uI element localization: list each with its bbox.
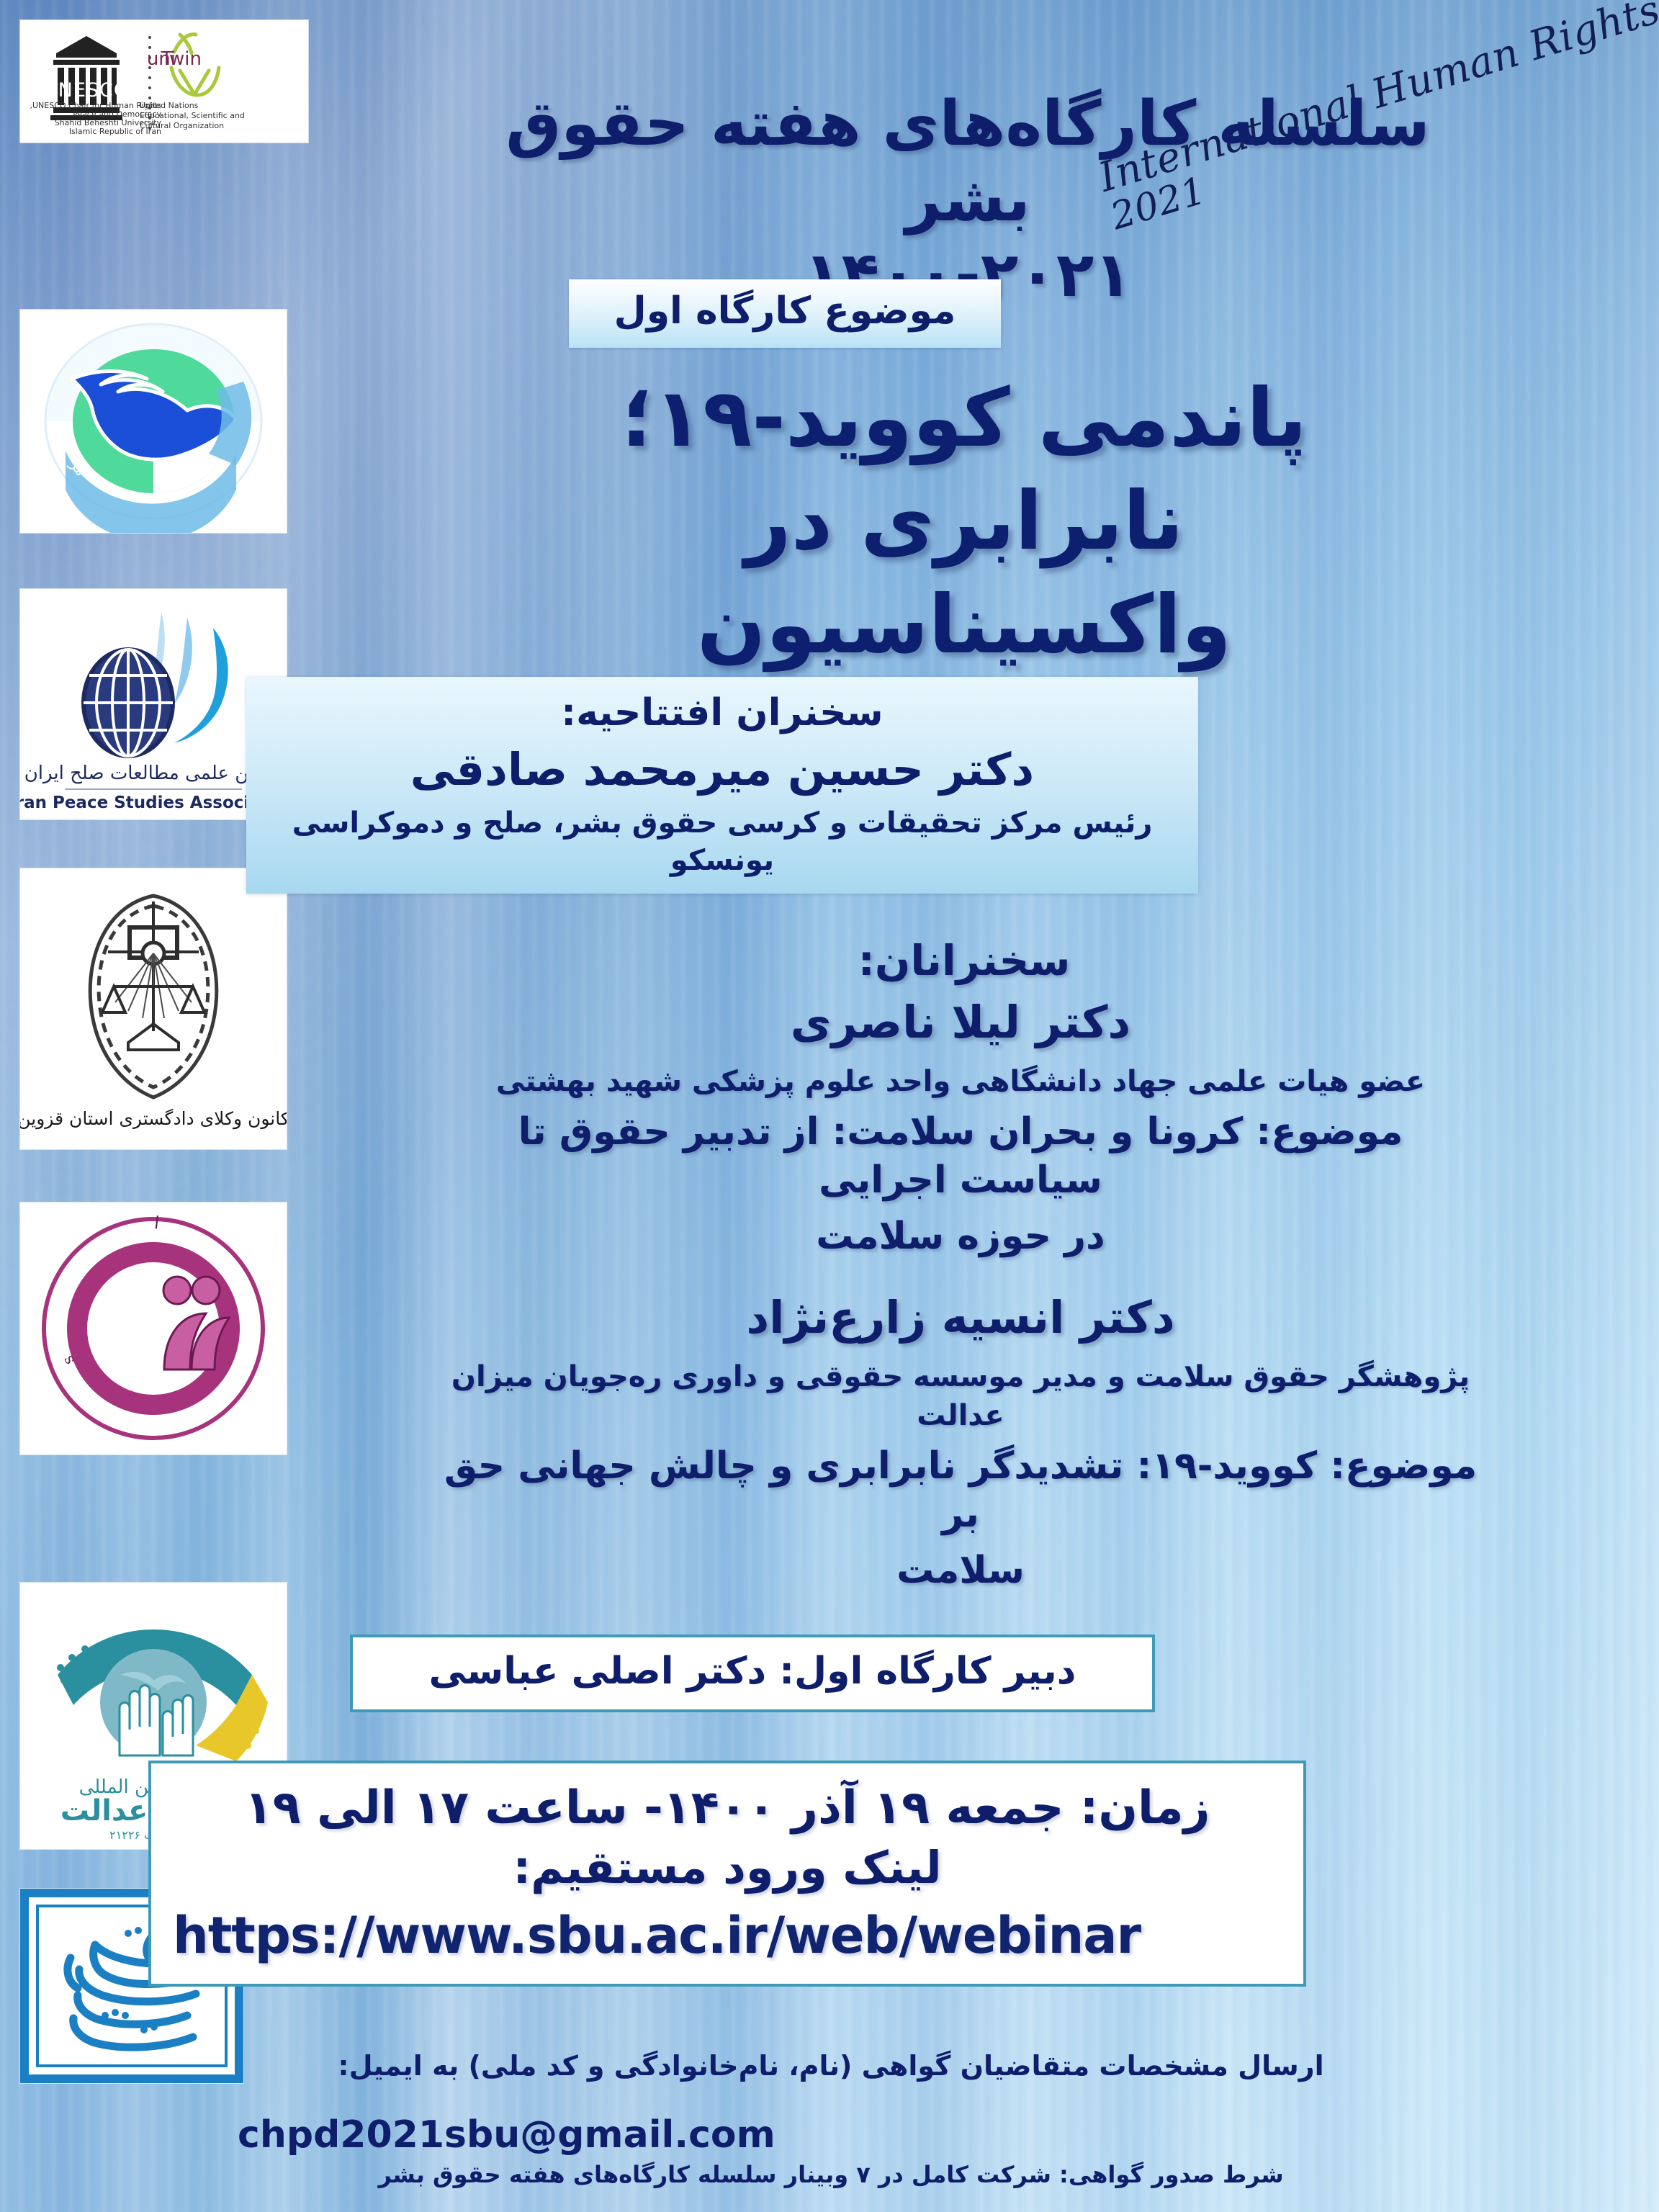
event-info-box: زمان: جمعه ۱۹ آذر ۱۴۰۰- ساعت ۱۷ الی ۱۹ ل…	[148, 1761, 1306, 1987]
event-link-label: لینک ورود مستقیم:	[173, 1840, 1282, 1896]
speaker-item: دکتر انسیه زارع‌نژاد پژوهشگر حقوق سلامت …	[442, 1289, 1479, 1595]
poster-canvas: UNESCO United Nations Educational, Scien…	[0, 0, 1659, 2212]
iranian-association-of-womens-studies-logo: انجمن ایرانی مطالعات زنان Iranian Associ…	[20, 1202, 287, 1455]
series-title-line1: سلسله کارگاه‌های هفته حقوق بشر	[457, 86, 1479, 238]
speaker-item: دکتر لیلا ناصری عضو هیات علمی جهاد دانشگ…	[442, 994, 1479, 1261]
speaker-topic-line2: سلامت	[442, 1547, 1479, 1596]
speaker-affiliation: عضو هیات علمی جهاد دانشگاهی واحد علوم پز…	[442, 1062, 1479, 1101]
opening-speaker-label: سخنران افتتاحیه:	[265, 690, 1179, 737]
speaker-affiliation: پژوهشگر حقوق سلامت و مدیر موسسه حقوقی و …	[442, 1357, 1479, 1435]
contact-email[interactable]: chpd2021sbu@gmail.com	[238, 2113, 886, 2157]
svg-text:Islamic Republic of Iran: Islamic Republic of Iran	[69, 127, 161, 136]
speaker-name: دکتر انسیه زارع‌نژاد	[442, 1289, 1479, 1347]
qazvin-bar-association-logo: کانون وکلای دادگستری استان قزوین	[20, 868, 287, 1149]
main-title-line1: پاندمی کووید-۱۹؛	[485, 367, 1443, 470]
page-title: پاندمی کووید-۱۹؛ نابرابری در واکسیناسیون	[485, 367, 1443, 677]
unesco-chair-logo: UNESCO United Nations Educational, Scien…	[20, 20, 308, 143]
speaker-topic-line1: موضوع: کووید-۱۹: تشدیدگر نابرابری و چالش…	[442, 1442, 1479, 1539]
workshop-topic-chip: موضوع کارگاه اول	[569, 279, 1001, 348]
event-datetime: زمان: جمعه ۱۹ آذر ۱۴۰۰- ساعت ۱۷ الی ۱۹	[173, 1779, 1282, 1837]
opening-speaker-affiliation: رئیس مرکز تحقیقات و کرسی حقوق بشر، صلح و…	[265, 804, 1179, 879]
certificate-request-note: ارسال مشخصات متقاضیان گواهی (نام، نام‌خا…	[104, 2049, 1558, 2084]
certificate-condition-note: شرط صدور گواهی: شرکت کامل در ۷ وبینار سل…	[104, 2160, 1558, 2190]
main-title-line2: نابرابری در واکسیناسیون	[485, 470, 1443, 677]
speaker-topic-line2: در حوزه سلامت	[442, 1213, 1479, 1262]
speakers-heading: سخنرانان:	[485, 936, 1443, 985]
svg-text:Twin: Twin	[160, 48, 202, 70]
svg-text:کانون وکلای دادگستری استان قزو: کانون وکلای دادگستری استان قزوین	[20, 1108, 287, 1130]
svg-text:انجمن علمی مطالعات صلح ایران: انجمن علمی مطالعات صلح ایران	[24, 763, 283, 784]
opening-speaker-box: سخنران افتتاحیه: دکتر حسین میرمحمد صادقی…	[246, 677, 1198, 894]
speaker-name: دکتر لیلا ناصری	[442, 994, 1479, 1052]
center-for-peace-and-environment-logo: CENTER FOR PEACE AND ENVIRONMENT مرکز صل…	[20, 310, 287, 533]
workshop-secretary-box: دبیر کارگاه اول: دکتر اصلی عباسی	[350, 1635, 1155, 1712]
speaker-topic-line1: موضوع: کرونا و بحران سلامت: از تدبیر حقو…	[442, 1108, 1479, 1205]
opening-speaker-name: دکتر حسین میرمحمد صادقی	[265, 739, 1179, 800]
event-webinar-link[interactable]: https://www.sbu.ac.ir/web/webinar	[173, 1906, 1282, 1965]
svg-text:UNESCO: UNESCO	[43, 79, 130, 102]
svg-text:CENTER FOR PEACE AND ENVIRONME: CENTER FOR PEACE AND ENVIRONMENT	[20, 310, 28, 313]
